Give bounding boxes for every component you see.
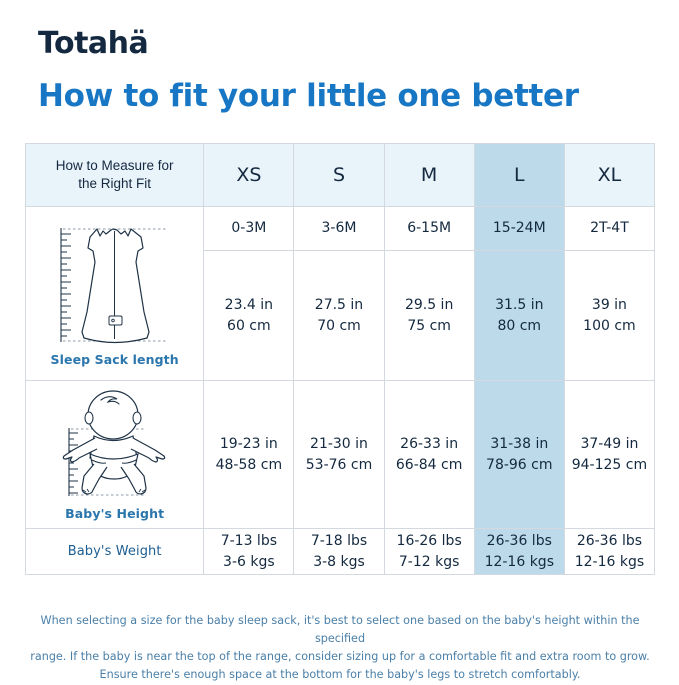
cell-height-s: 21-30 in 53-76 cm xyxy=(294,381,384,529)
cell-height-l: 31-38 in 78-96 cm xyxy=(474,381,564,529)
cell-weight-xs-kgs: 3-6 kgs xyxy=(204,552,293,572)
cell-length-s-in: 27.5 in xyxy=(294,295,383,315)
cell-weight-m: 16-26 lbs 7-12 kgs xyxy=(384,529,474,575)
cell-weight-l-lbs: 26-36 lbs xyxy=(475,531,564,551)
cell-weight-xs: 7-13 lbs 3-6 kgs xyxy=(204,529,294,575)
footer-note-line2: range. If the baby is near the top of th… xyxy=(22,648,658,666)
cell-weight-s-kgs: 3-8 kgs xyxy=(294,552,383,572)
cell-length-m: 29.5 in 75 cm xyxy=(384,251,474,381)
cell-weight-l: 26-36 lbs 12-16 kgs xyxy=(474,529,564,575)
size-header-s[interactable]: S xyxy=(294,144,384,207)
cell-height-l-in: 31-38 in xyxy=(475,434,564,454)
cell-age-l: 15-24M xyxy=(474,207,564,251)
cell-weight-xl-kgs: 12-16 kgs xyxy=(565,552,654,572)
cell-weight-m-kgs: 7-12 kgs xyxy=(385,552,474,572)
cell-length-l: 31.5 in 80 cm xyxy=(474,251,564,381)
label-text-baby-height: Baby's Height xyxy=(26,506,203,521)
cell-length-l-cm: 80 cm xyxy=(475,316,564,336)
cell-length-s: 27.5 in 70 cm xyxy=(294,251,384,381)
table-row-baby-height: Baby's Height 19-23 in 48-58 cm 21-30 in… xyxy=(26,381,655,529)
cell-length-xs-in: 23.4 in xyxy=(204,295,293,315)
cell-length-xs-cm: 60 cm xyxy=(204,316,293,336)
page-title: How to fit your little one better xyxy=(38,78,579,114)
cell-height-xs: 19-23 in 48-58 cm xyxy=(204,381,294,529)
cell-weight-l-kgs: 12-16 kgs xyxy=(475,552,564,572)
label-column-header-line1: How to Measure for xyxy=(40,157,189,175)
label-cell-baby-weight: Baby's Weight xyxy=(26,529,204,575)
size-header-l[interactable]: L xyxy=(474,144,564,207)
cell-length-xs: 23.4 in 60 cm xyxy=(204,251,294,381)
footer-note-line1: When selecting a size for the baby sleep… xyxy=(22,612,658,648)
label-cell-baby-height: Baby's Height xyxy=(26,381,204,529)
cell-length-xl: 39 in 100 cm xyxy=(564,251,654,381)
sleep-sack-illustration xyxy=(39,220,191,352)
cell-weight-xs-lbs: 7-13 lbs xyxy=(204,531,293,551)
size-header-xs[interactable]: XS xyxy=(204,144,294,207)
label-cell-sleep-sack-length: Sleep Sack length xyxy=(26,207,204,381)
cell-weight-s-lbs: 7-18 lbs xyxy=(294,531,383,551)
label-column-header: How to Measure for the Right Fit xyxy=(26,144,204,207)
label-column-header-line2: the Right Fit xyxy=(40,175,189,193)
footer-note: When selecting a size for the baby sleep… xyxy=(22,612,658,685)
baby-illustration xyxy=(37,388,192,506)
cell-length-l-in: 31.5 in xyxy=(475,295,564,315)
cell-length-xl-cm: 100 cm xyxy=(565,316,654,336)
cell-height-xl-cm: 94-125 cm xyxy=(565,455,654,475)
cell-height-m: 26-33 in 66-84 cm xyxy=(384,381,474,529)
cell-length-s-cm: 70 cm xyxy=(294,316,383,336)
cell-height-xl: 37-49 in 94-125 cm xyxy=(564,381,654,529)
cell-height-s-cm: 53-76 cm xyxy=(294,455,383,475)
cell-height-l-cm: 78-96 cm xyxy=(475,455,564,475)
size-chart-table: How to Measure for the Right Fit XS S M … xyxy=(25,143,655,575)
cell-age-xl: 2T-4T xyxy=(564,207,654,251)
cell-weight-xl-lbs: 26-36 lbs xyxy=(565,531,654,551)
cell-length-m-in: 29.5 in xyxy=(385,295,474,315)
label-text-baby-weight: Baby's Weight xyxy=(26,544,203,559)
cell-height-xs-in: 19-23 in xyxy=(204,434,293,454)
cell-age-s: 3-6M xyxy=(294,207,384,251)
cell-age-m: 6-15M xyxy=(384,207,474,251)
cell-height-s-in: 21-30 in xyxy=(294,434,383,454)
size-header-m[interactable]: M xyxy=(384,144,474,207)
label-text-sleep-sack-length: Sleep Sack length xyxy=(26,352,203,367)
cell-height-xs-cm: 48-58 cm xyxy=(204,455,293,475)
size-header-xl[interactable]: XL xyxy=(564,144,654,207)
table-row-age: Sleep Sack length 0-3M 3-6M 6-15M 15-24M… xyxy=(26,207,655,251)
cell-weight-s: 7-18 lbs 3-8 kgs xyxy=(294,529,384,575)
footer-note-line3: Ensure there's enough space at the botto… xyxy=(22,666,658,684)
cell-length-xl-in: 39 in xyxy=(565,295,654,315)
table-row-baby-weight: Baby's Weight 7-13 lbs 3-6 kgs 7-18 lbs … xyxy=(26,529,655,575)
cell-height-m-cm: 66-84 cm xyxy=(385,455,474,475)
table-header-row: How to Measure for the Right Fit XS S M … xyxy=(26,144,655,207)
cell-weight-xl: 26-36 lbs 12-16 kgs xyxy=(564,529,654,575)
cell-length-m-cm: 75 cm xyxy=(385,316,474,336)
cell-height-xl-in: 37-49 in xyxy=(565,434,654,454)
cell-age-xs: 0-3M xyxy=(204,207,294,251)
cell-height-m-in: 26-33 in xyxy=(385,434,474,454)
brand-logo: Totahä xyxy=(38,26,148,61)
cell-weight-m-lbs: 16-26 lbs xyxy=(385,531,474,551)
